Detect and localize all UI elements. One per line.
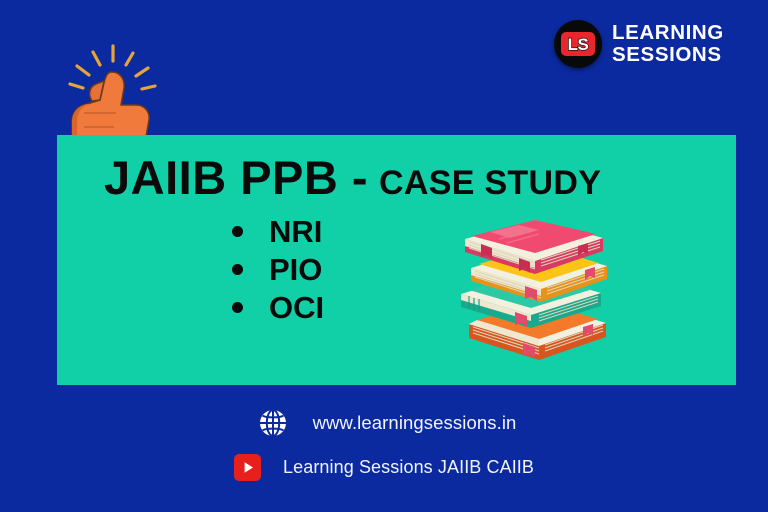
page-title: JAIIB PPB - CASE STUDY: [104, 150, 601, 205]
logo-red-plate: LS: [561, 32, 595, 56]
list-item: OCI: [232, 289, 324, 327]
youtube-channel-label: Learning Sessions JAIIB CAIIB: [283, 457, 534, 478]
globe-icon: [258, 408, 288, 438]
website-link-label: www.learningsessions.in: [313, 412, 517, 434]
youtube-icon: [234, 454, 261, 481]
list-item-label: NRI: [269, 213, 322, 251]
website-link[interactable]: www.learningsessions.in: [0, 408, 768, 438]
brand-logo: LS LEARNING SESSIONS: [554, 20, 724, 68]
content-panel: JAIIB PPB - CASE STUDY NRI PIO OCI: [57, 135, 736, 385]
bullet-dot-icon: [232, 302, 243, 313]
list-item-label: OCI: [269, 289, 324, 327]
youtube-channel-link[interactable]: Learning Sessions JAIIB CAIIB: [0, 454, 768, 481]
topic-list: NRI PIO OCI: [232, 213, 324, 326]
bullet-dot-icon: [232, 264, 243, 275]
ls-circle-logo-icon: LS: [554, 20, 602, 68]
bullet-dot-icon: [232, 226, 243, 237]
list-item: NRI: [232, 213, 324, 251]
brand-wordmark-line2: SESSIONS: [612, 44, 724, 66]
footer: www.learningsessions.in Learning Session…: [0, 408, 768, 481]
title-main: JAIIB PPB -: [104, 150, 368, 205]
stack-of-books-icon: [455, 220, 620, 365]
logo-ls-text: LS: [568, 36, 589, 53]
brand-wordmark: LEARNING SESSIONS: [612, 22, 724, 66]
title-sub: CASE STUDY: [379, 164, 601, 203]
list-item-label: PIO: [269, 251, 322, 289]
brand-wordmark-line1: LEARNING: [612, 22, 724, 44]
list-item: PIO: [232, 251, 324, 289]
